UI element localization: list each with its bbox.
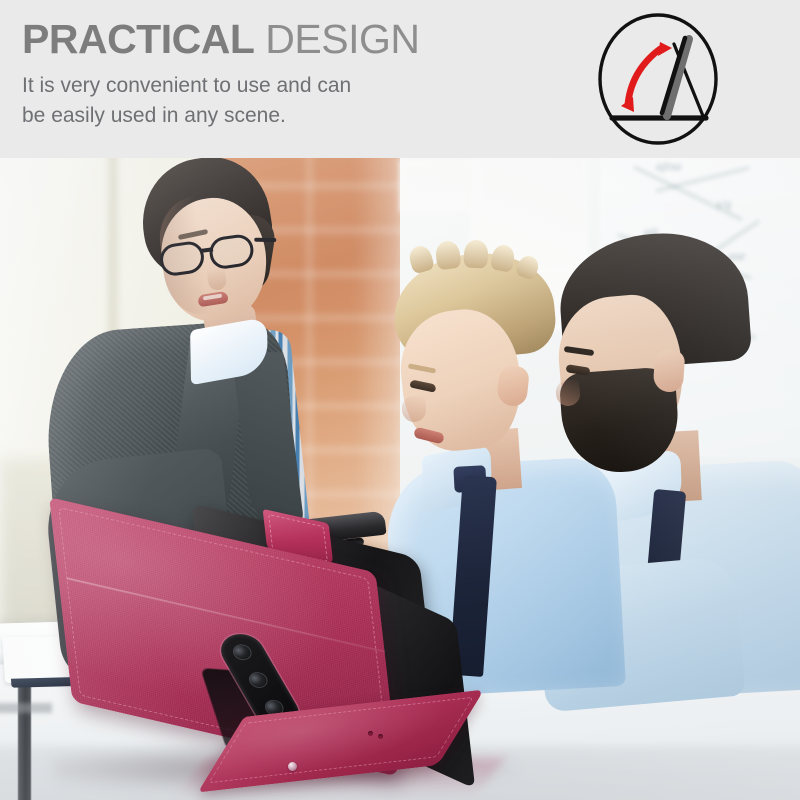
ear: [496, 365, 530, 408]
case-hole: [368, 731, 373, 736]
header-text-block: PRACTICAL DESIGN It is very convenient t…: [22, 14, 562, 131]
eyeglass-lens-right: [208, 233, 256, 271]
phone-kickstand-rotate-icon: [588, 8, 728, 150]
eyeglass-lens-left: [158, 240, 206, 278]
camera-lens: [247, 671, 269, 689]
title-bold-word: PRACTICAL: [22, 16, 254, 62]
magenta-wallet-phone-case: [20, 518, 580, 800]
header-band: PRACTICAL DESIGN It is very convenient t…: [0, 0, 800, 158]
title-light-word: DESIGN: [265, 16, 419, 62]
eyeglass-temple: [254, 238, 276, 242]
metal-rivet: [288, 762, 297, 771]
subtitle-line-2: be easily used in any scene.: [22, 101, 562, 131]
product-feature-banner: PRACTICAL DESIGN It is very convenient t…: [0, 0, 800, 800]
page-title: PRACTICAL DESIGN: [22, 14, 562, 64]
page-subtitle: It is very convenient to use and can be …: [22, 71, 562, 131]
case-hole: [378, 734, 383, 739]
camera-lens: [231, 643, 253, 661]
product-lifestyle-photo: ajtsa s/q ajt ase o/s at a: [0, 158, 800, 800]
ear: [653, 349, 686, 393]
subtitle-line-1: It is very convenient to use and can: [22, 71, 562, 101]
